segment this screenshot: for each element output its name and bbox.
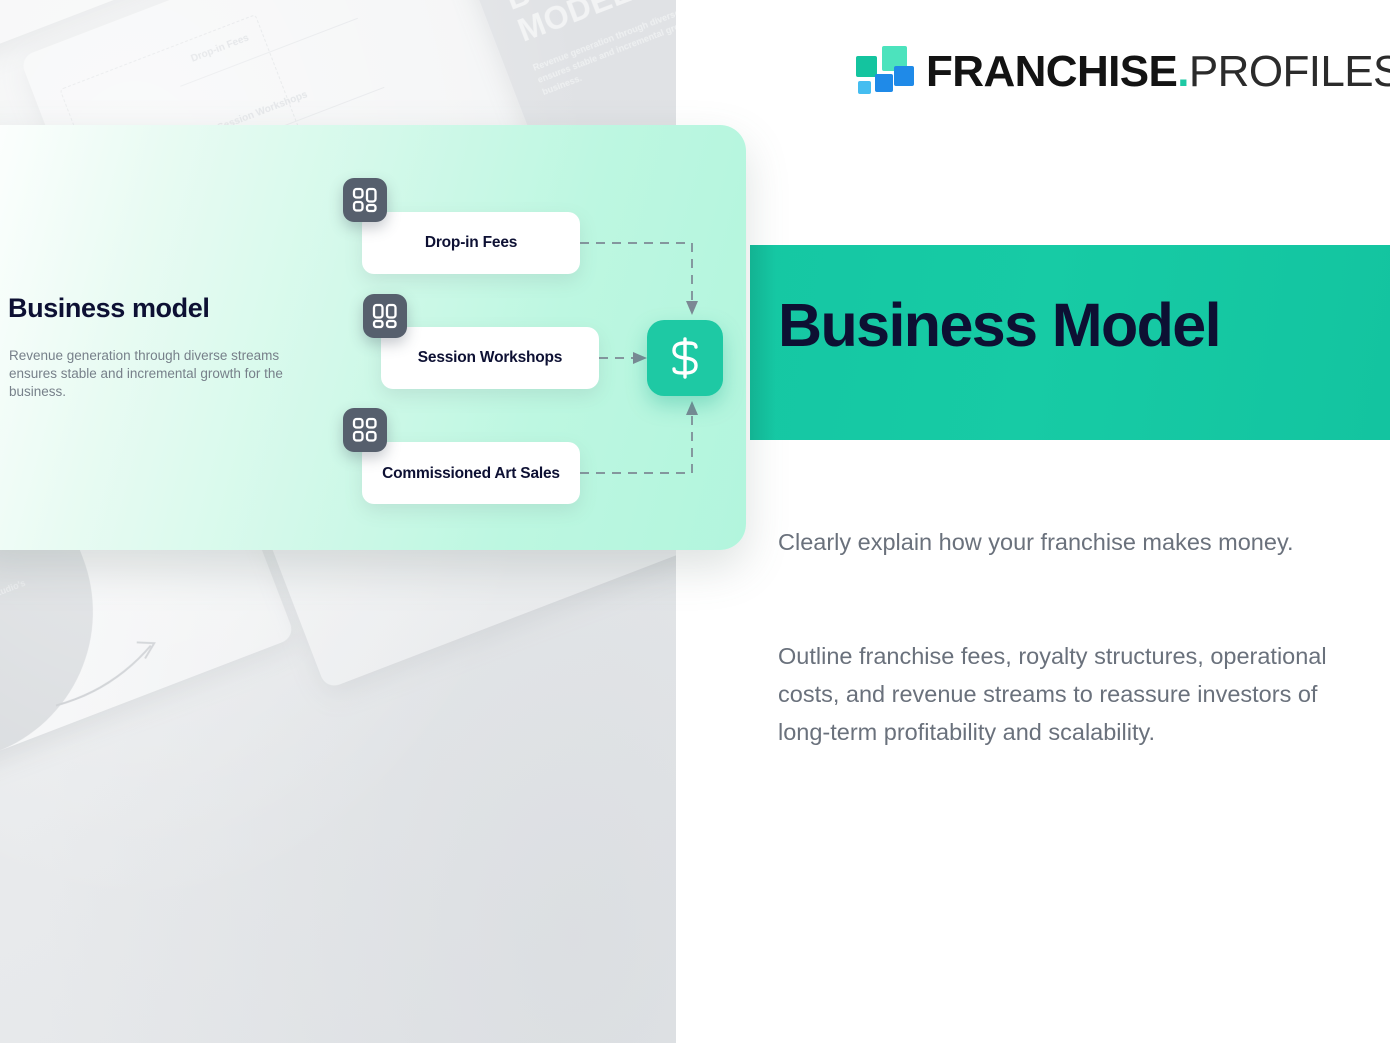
brand-wordmark: FRANCHISE.PROFILES <box>926 50 1390 94</box>
franchise-profiles-logo-mark <box>850 44 908 100</box>
brand-dot: . <box>1177 47 1189 96</box>
revenue-stream-label: Session Workshops <box>418 349 562 367</box>
business-model-slide-card: Business model Revenue generation throug… <box>0 125 746 550</box>
card-subtitle: Revenue generation through diverse strea… <box>9 347 315 401</box>
revenue-stream-card-session-workshops[interactable]: Session Workshops <box>381 327 599 389</box>
grid-dashboard-icon <box>343 408 387 452</box>
grid-dashboard-icon <box>363 294 407 338</box>
brand-name-bold: FRANCHISE <box>926 47 1177 96</box>
revenue-stream-card-drop-in-fees[interactable]: Drop-in Fees <box>362 212 580 274</box>
revenue-stream-label: Drop-in Fees <box>425 234 517 252</box>
brand-logo[interactable]: FRANCHISE.PROFILES <box>850 44 1390 100</box>
section-banner: Business Model <box>750 245 1390 440</box>
page-title: Business Model <box>778 295 1220 356</box>
bg-block <box>0 0 101 13</box>
description-paragraph-2: Outline franchise fees, royalty structur… <box>778 637 1356 751</box>
description-paragraph-1: Clearly explain how your franchise makes… <box>778 523 1356 561</box>
dollar-sign-icon <box>647 320 723 396</box>
revenue-stream-card-commissioned-art-sales[interactable]: Commissioned Art Sales <box>362 442 580 504</box>
card-title: Business model <box>8 293 209 324</box>
brand-name-light: PROFILES <box>1189 47 1390 96</box>
revenue-stream-label: Commissioned Art Sales <box>382 464 560 483</box>
grid-dashboard-icon <box>343 178 387 222</box>
slide-canvas: MARKET spaces in urban and suburban a su… <box>0 0 1390 1043</box>
